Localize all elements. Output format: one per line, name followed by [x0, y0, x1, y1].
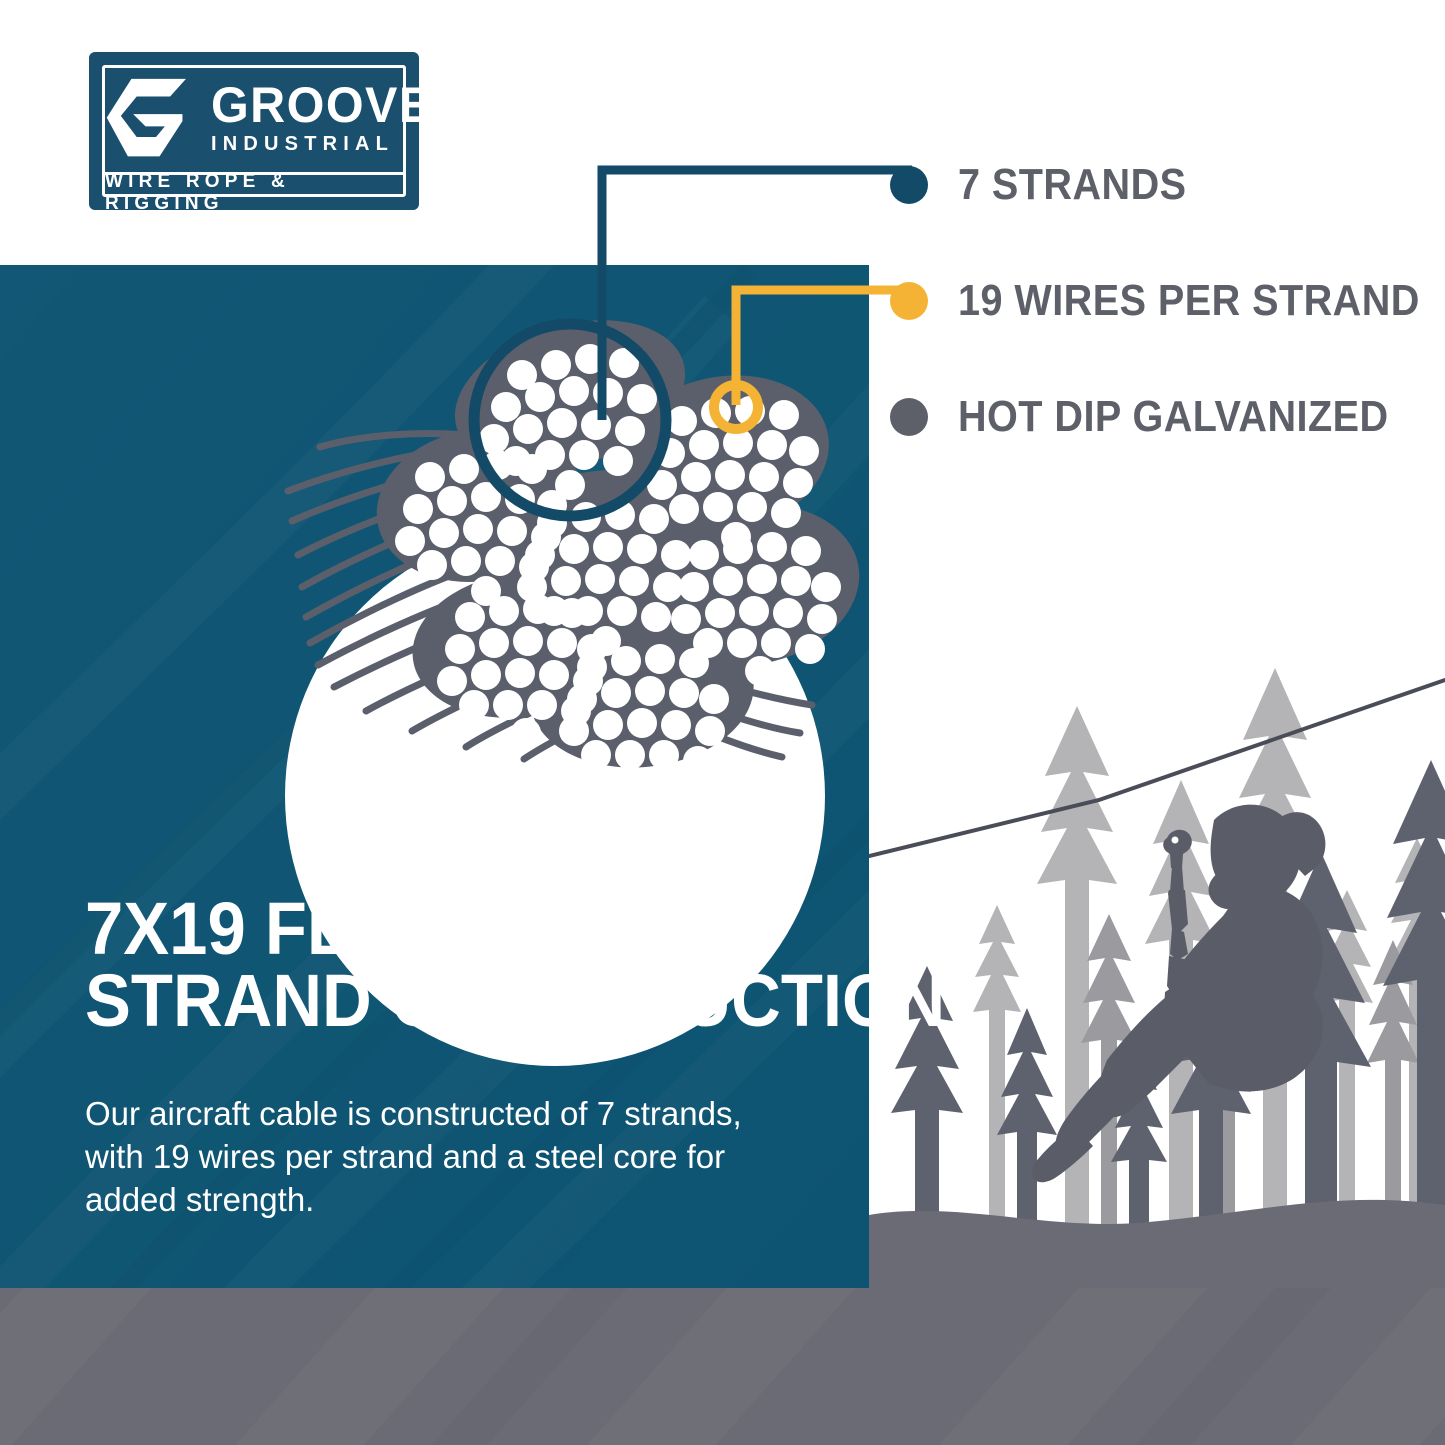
logo-tagline: WIRE ROPE & RIGGING — [105, 178, 403, 208]
callout-dot-icon — [890, 398, 928, 436]
brand-logo[interactable]: GROOVE INDUSTRIAL WIRE ROPE & RIGGING — [89, 52, 419, 210]
logo-subname: INDUSTRIAL — [211, 133, 439, 156]
footer-stripe-texture — [0, 1288, 1445, 1445]
callout-label: 19 WIRES PER STRAND — [958, 276, 1420, 326]
headline-line-2: STRAND CONSTRUCTION — [85, 965, 792, 1037]
wire-rope-art — [270, 255, 890, 815]
infographic-canvas: GROOVE INDUSTRIAL WIRE ROPE & RIGGING 7 … — [0, 0, 1445, 1445]
footer-strip — [0, 1288, 1445, 1445]
callout-item-galvanized[interactable]: HOT DIP GALVANIZED — [890, 392, 1436, 442]
body-description: Our aircraft cable is constructed of 7 s… — [85, 1093, 745, 1222]
groove-g-icon — [105, 68, 193, 169]
callout-dot-icon — [890, 166, 928, 204]
logo-name: GROOVE — [211, 82, 433, 128]
page-title: 7X19 FLEXIBLE STRAND CONSTRUCTION — [85, 893, 845, 1037]
logo-frame: GROOVE INDUSTRIAL WIRE ROPE & RIGGING — [89, 52, 419, 210]
wire-rope-illustration — [270, 255, 890, 815]
logo-top-row: GROOVE INDUSTRIAL — [105, 68, 403, 169]
logo-wordmark: GROOVE INDUSTRIAL — [209, 68, 439, 169]
headline-line-1: 7X19 FLEXIBLE — [85, 893, 792, 965]
callout-label: HOT DIP GALVANIZED — [958, 392, 1389, 442]
callout-item-strands[interactable]: 7 STRANDS — [890, 160, 1212, 210]
rope-strands — [364, 295, 872, 798]
callout-dot-icon — [890, 282, 928, 320]
callout-item-wires[interactable]: 19 WIRES PER STRAND — [890, 276, 1445, 326]
callout-label: 7 STRANDS — [958, 160, 1186, 210]
